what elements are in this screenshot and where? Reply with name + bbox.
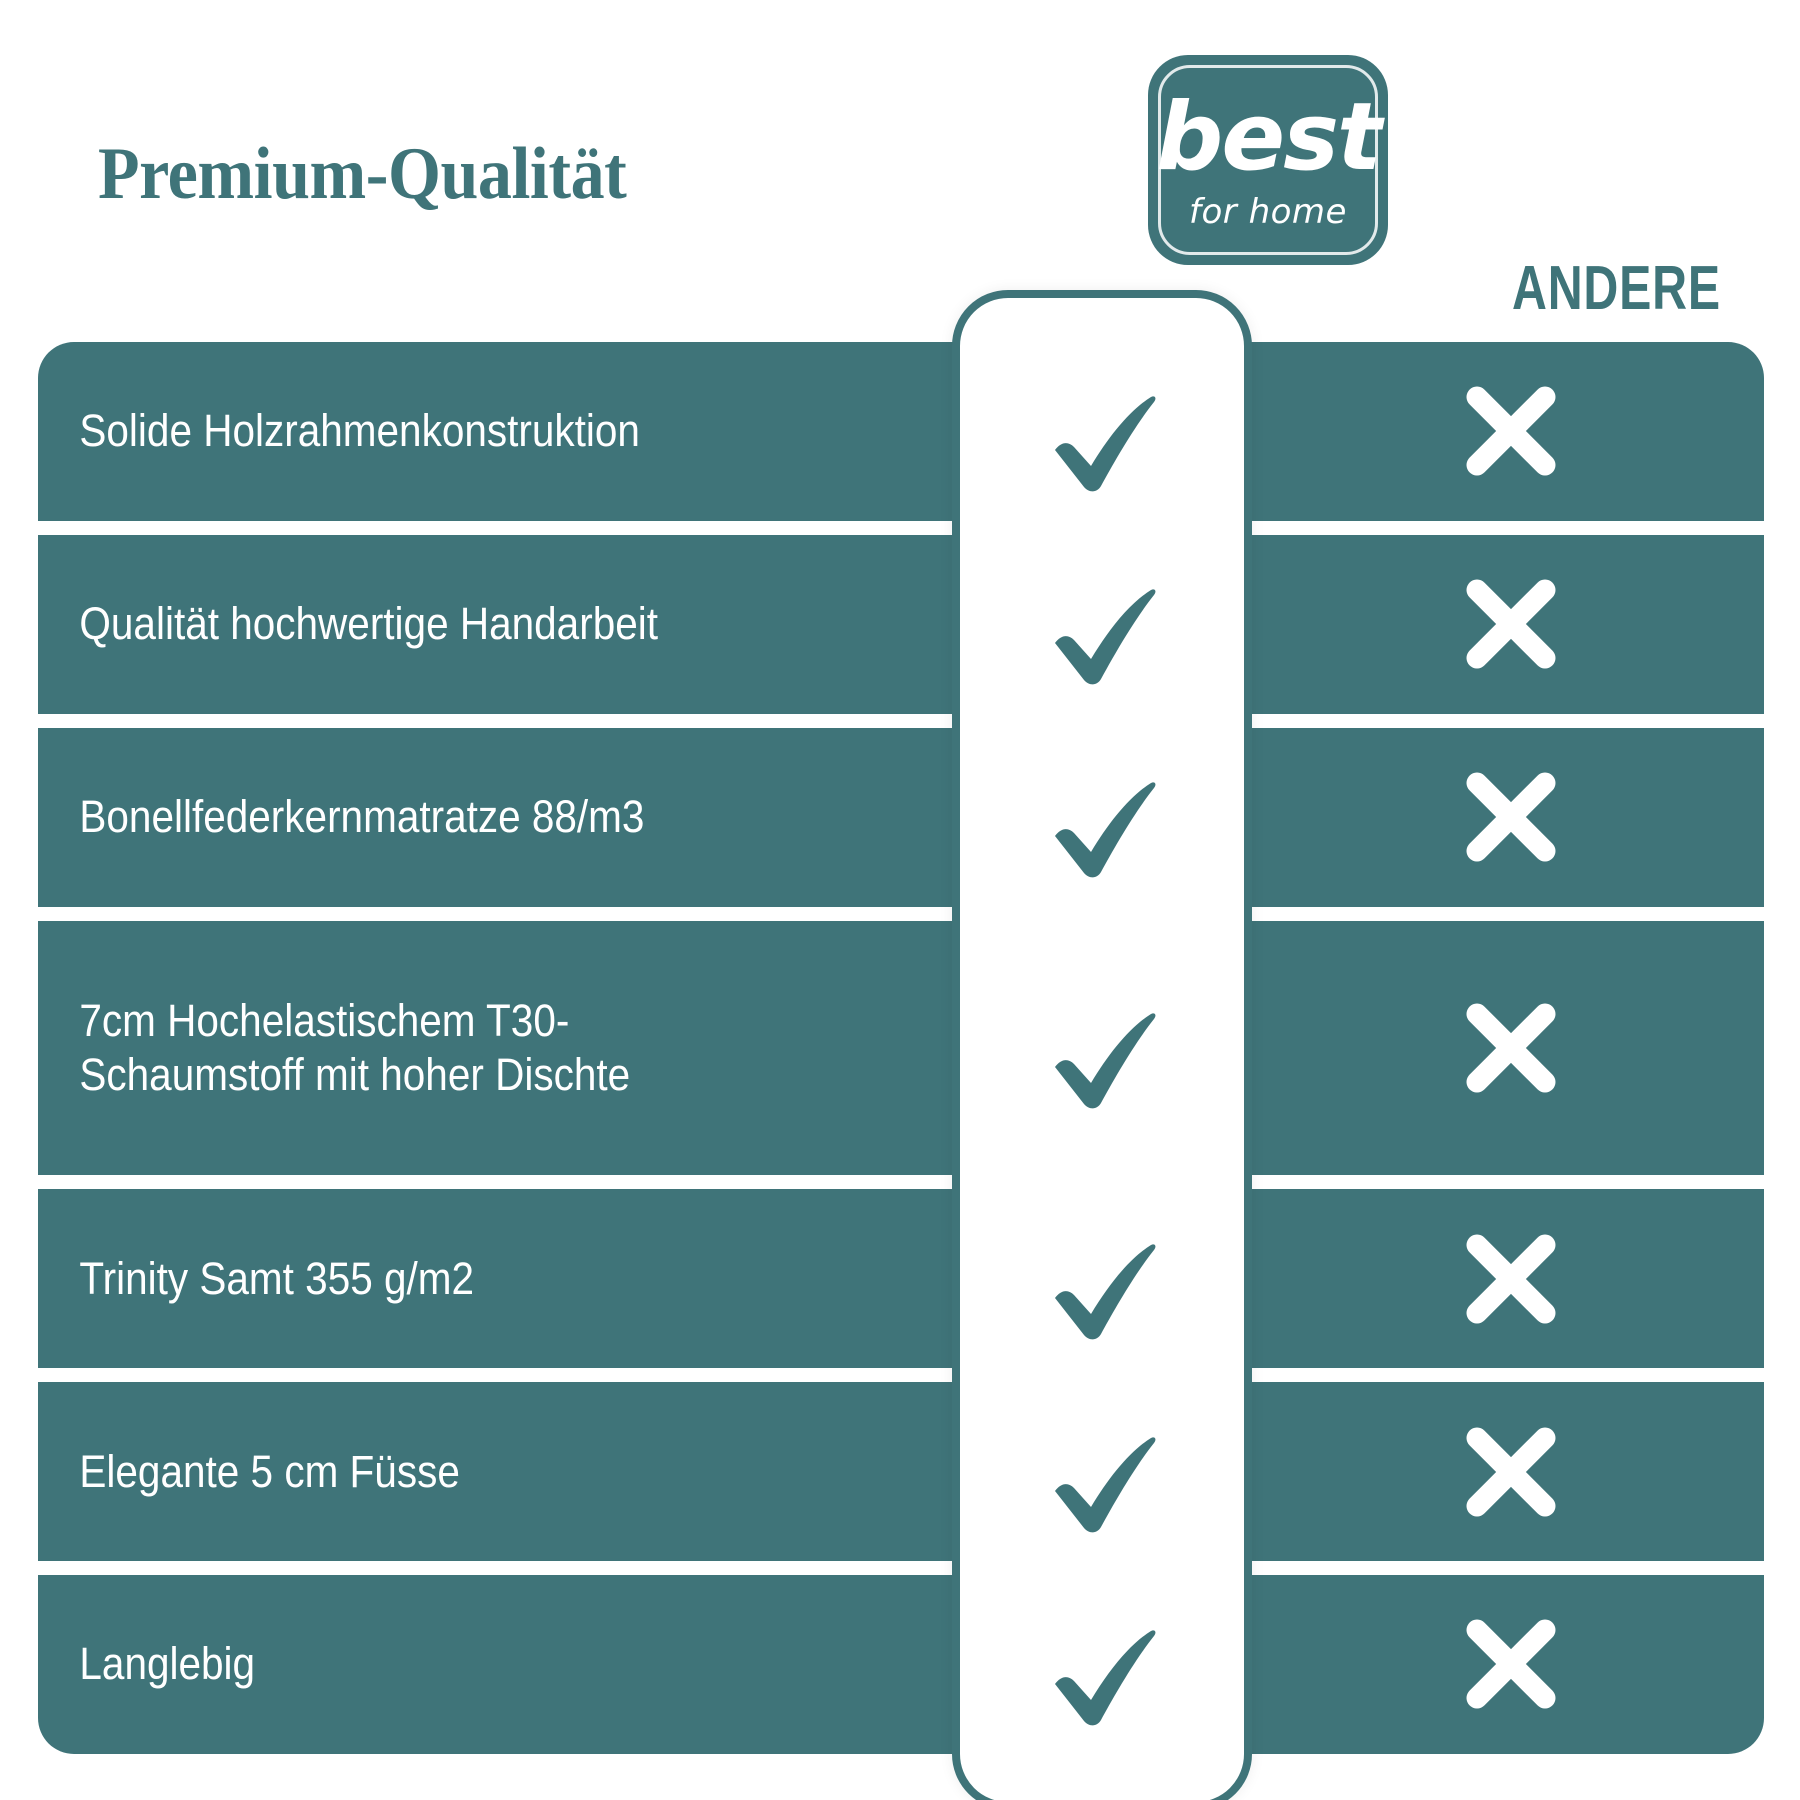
ours-cell [960,991,1244,1121]
highlight-column-ours [952,290,1252,1800]
ours-cell [960,1608,1244,1738]
check-icon [1037,1415,1167,1545]
row-divider [38,1561,1764,1575]
column-header-others: ANDERE [1512,258,1721,320]
others-cell [1258,379,1764,483]
row-divider [38,1175,1764,1189]
check-icon [1037,374,1167,504]
others-cell [1258,996,1764,1100]
feature-label: 7cm Hochelastischem T30-Schaumstoff mit … [38,994,857,1102]
table-row: Langlebig [38,1575,1764,1754]
feature-label-line: 7cm Hochelastischem T30- [79,994,857,1048]
row-divider [38,907,1764,921]
ours-cell [960,1415,1244,1545]
feature-label-line: Qualität hochwertige Handarbeit [79,597,857,651]
ours-cell [960,1222,1244,1352]
logo-secondary-text: for home [1148,195,1388,229]
comparison-table: Solide HolzrahmenkonstruktionQualität ho… [38,342,1764,1754]
cross-icon [1459,1420,1563,1524]
logo-primary-text: best [1148,91,1388,185]
check-icon [1037,760,1167,890]
feature-label-line: Elegante 5 cm Füsse [79,1445,857,1499]
others-cell [1258,1420,1764,1524]
cross-icon [1459,765,1563,869]
others-cell [1258,1227,1764,1331]
feature-label-line: Schaumstoff mit hoher Dischte [79,1048,857,1102]
row-divider [38,1368,1764,1382]
feature-label: Qualität hochwertige Handarbeit [38,597,857,651]
cross-icon [1459,572,1563,676]
page-title: Premium-Qualität [98,132,626,217]
ours-cell [960,567,1244,697]
feature-label-line: Solide Holzrahmenkonstruktion [79,404,857,458]
ours-cell [960,760,1244,890]
row-divider [38,714,1764,728]
feature-label: Trinity Samt 355 g/m2 [38,1252,857,1306]
feature-label: Elegante 5 cm Füsse [38,1445,857,1499]
table-row: Qualität hochwertige Handarbeit [38,535,1764,714]
feature-label-line: Bonellfederkernmatratze 88/m3 [79,790,857,844]
ours-cell [960,374,1244,504]
feature-label: Langlebig [38,1637,857,1691]
feature-label: Solide Holzrahmenkonstruktion [38,404,857,458]
check-icon [1037,567,1167,697]
cross-icon [1459,996,1563,1100]
check-icon [1037,1222,1167,1352]
others-cell [1258,1612,1764,1716]
others-cell [1258,765,1764,869]
cross-icon [1459,379,1563,483]
table-row: Elegante 5 cm Füsse [38,1382,1764,1561]
row-divider [38,521,1764,535]
comparison-infographic: Premium-Qualität best for home ANDERE So… [0,0,1800,1800]
cross-icon [1459,1612,1563,1716]
brand-logo: best for home [1148,55,1388,265]
table-row: Solide Holzrahmenkonstruktion [38,342,1764,521]
table-row: Bonellfederkernmatratze 88/m3 [38,728,1764,907]
cross-icon [1459,1227,1563,1331]
check-stack [960,350,1244,1762]
feature-label: Bonellfederkernmatratze 88/m3 [38,790,857,844]
table-row: 7cm Hochelastischem T30-Schaumstoff mit … [38,921,1764,1175]
others-cell [1258,572,1764,676]
check-icon [1037,1608,1167,1738]
check-icon [1037,991,1167,1121]
table-row: Trinity Samt 355 g/m2 [38,1189,1764,1368]
feature-label-line: Trinity Samt 355 g/m2 [79,1252,857,1306]
feature-label-line: Langlebig [79,1637,857,1691]
